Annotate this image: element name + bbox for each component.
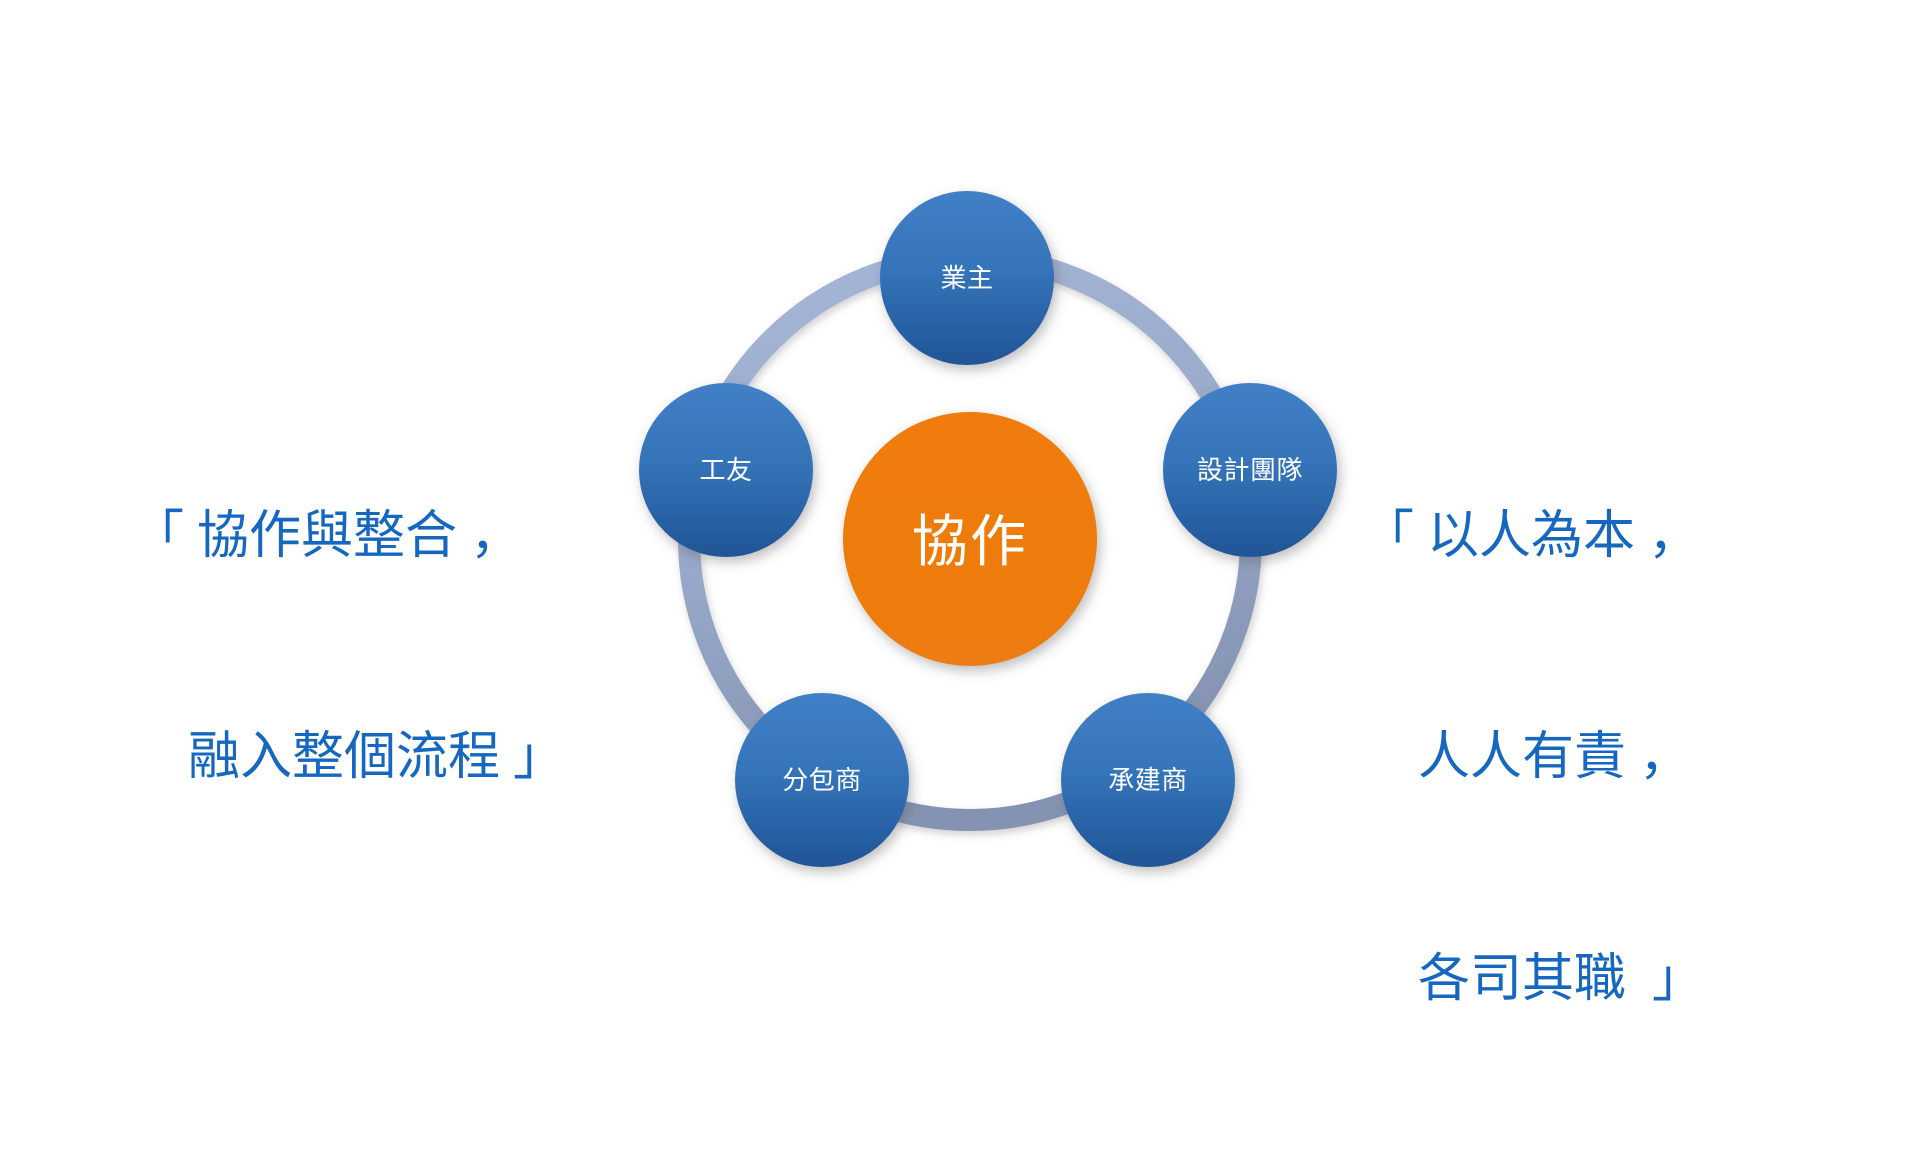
quote-left: 「 協作與整合 ， 融入整個流程 」 xyxy=(132,352,565,943)
quote-left-line-1: 「 協作與整合 ， xyxy=(132,500,565,574)
node-circle-contractor[interactable] xyxy=(1061,693,1235,867)
node-circle-design-team[interactable] xyxy=(1163,383,1337,557)
node-circle-owner[interactable] xyxy=(880,191,1054,365)
core-node-collaboration[interactable] xyxy=(843,412,1097,666)
quote-right: 「 以人為本 ， 人人有責 ， 各司其職 」 xyxy=(1362,352,1704,1164)
quote-right-line-3: 各司其職 」 xyxy=(1362,943,1704,1017)
node-circle-subcontractor[interactable] xyxy=(735,693,909,867)
quote-left-line-2: 融入整個流程 」 xyxy=(132,721,565,795)
node-circle-worker[interactable] xyxy=(639,383,813,557)
quote-right-line-2: 人人有責 ， xyxy=(1362,721,1704,795)
quote-right-line-1: 「 以人為本 ， xyxy=(1362,500,1704,574)
slide-canvas: 協作 業主 設計團隊 承建商 分包商 工友 「 協作與整合 ， 融入整個流程 」… xyxy=(0,0,1920,1080)
